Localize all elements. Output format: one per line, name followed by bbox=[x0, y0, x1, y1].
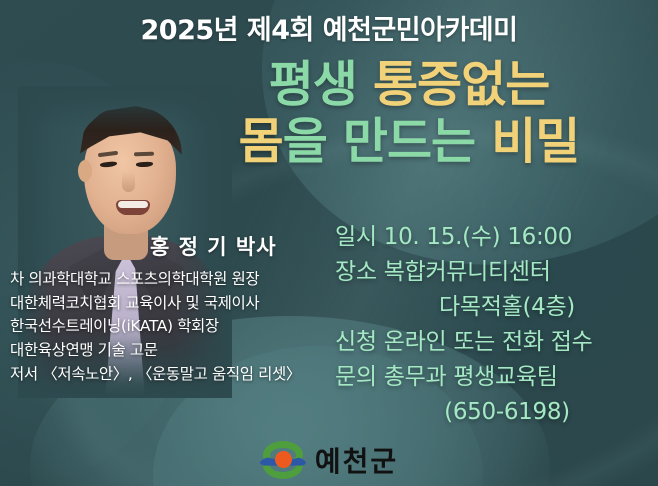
photo-mouth bbox=[116, 200, 150, 215]
credential-item: 저서 〈저속노안〉, 〈운동말고 움직임 리셋〉 bbox=[10, 363, 330, 387]
logo-sun-dot bbox=[275, 451, 292, 468]
detail-venue: 장소 복합커뮤니티센터 bbox=[335, 261, 653, 284]
speaker-credentials: 차 의과학대학교 스포츠의학대학원 원장 대한체력코치협회 교육이사 및 국제이… bbox=[10, 268, 330, 387]
event-details: 일시 10. 15.(수) 16:00 장소 복합커뮤니티센터 다목적홀(4층)… bbox=[335, 226, 653, 436]
detail-contact: 문의 총무과 평생교육팀 bbox=[335, 366, 653, 389]
detail-venue-hall: 다목적홀(4층) bbox=[335, 296, 653, 319]
event-poster: 2025년 제4회 예천군민아카데미 평생 통증없는 몸을 만드는 비밀 홍 정… bbox=[0, 0, 658, 486]
photo-teeth bbox=[118, 201, 148, 208]
photo-eyebrow-right bbox=[134, 152, 154, 157]
poster-kicker: 2025년 제4회 예천군민아카데미 bbox=[0, 8, 658, 47]
logo-label: 예천군 bbox=[315, 440, 398, 480]
headline-line-1: 평생 통증없는 bbox=[174, 56, 644, 113]
detail-date: 일시 10. 15.(수) 16:00 bbox=[335, 226, 653, 249]
photo-nose bbox=[122, 172, 135, 192]
credential-item: 차 의과학대학교 스포츠의학대학원 원장 bbox=[10, 268, 330, 292]
speaker-name: 홍 정 기 박사 bbox=[150, 231, 277, 261]
headline-line1-segment-1: 평생 bbox=[269, 56, 373, 113]
detail-phone: (650-6198) bbox=[335, 401, 653, 424]
photo-ear bbox=[78, 160, 92, 182]
detail-application: 신청 온라인 또는 전화 접수 bbox=[335, 331, 653, 354]
headline-line2-segment-3: 비밀 bbox=[491, 113, 579, 170]
headline-line2-segment-1: 몸 bbox=[239, 113, 283, 170]
yecheon-county-logo: 예천군 bbox=[0, 440, 658, 480]
headline-line2-segment-2: 을 만드는 bbox=[283, 113, 491, 170]
headline-line1-segment-2: 통증없는 bbox=[373, 56, 549, 113]
credential-item: 한국선수트레이닝(iKATA) 학회장 bbox=[10, 315, 330, 339]
credential-item: 대한육상연맹 기술 고문 bbox=[10, 339, 330, 363]
poster-headline: 평생 통증없는 몸을 만드는 비밀 bbox=[174, 56, 644, 171]
credential-item: 대한체력코치협회 교육이사 및 국제이사 bbox=[10, 292, 330, 316]
headline-line-2: 몸을 만드는 비밀 bbox=[174, 113, 644, 170]
yecheon-logo-icon bbox=[260, 440, 306, 480]
